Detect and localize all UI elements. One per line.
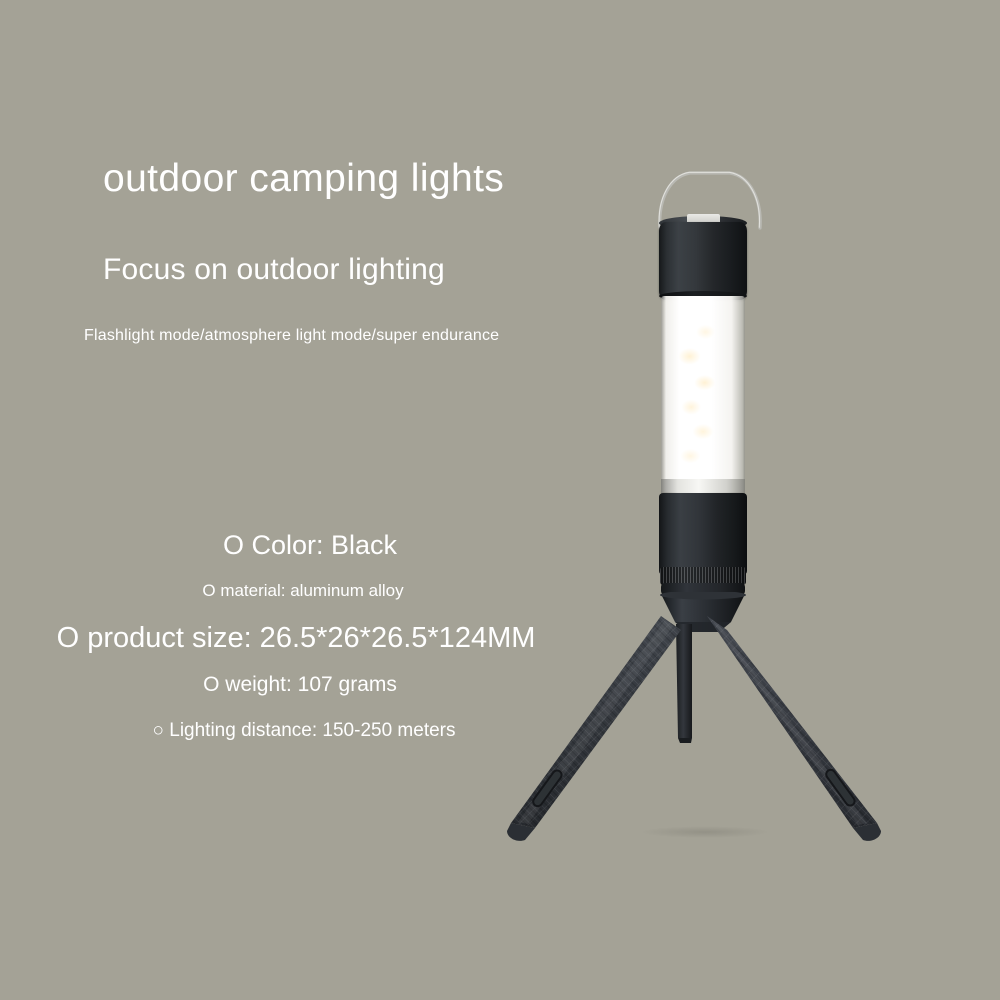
tripod-leg-center <box>676 624 692 743</box>
tripod-leg-right <box>707 616 881 841</box>
lower-aluminum-body <box>659 493 747 575</box>
ground-shadow <box>640 826 770 838</box>
product-image <box>0 0 1000 1000</box>
tripod-leg-left <box>507 616 681 841</box>
product-poster: outdoor camping lights Focus on outdoor … <box>0 0 1000 1000</box>
tripod-legs <box>495 600 915 855</box>
top-cap <box>659 222 747 300</box>
diffuser-clear-ring <box>661 479 745 494</box>
frosted-light-diffuser <box>661 296 745 492</box>
